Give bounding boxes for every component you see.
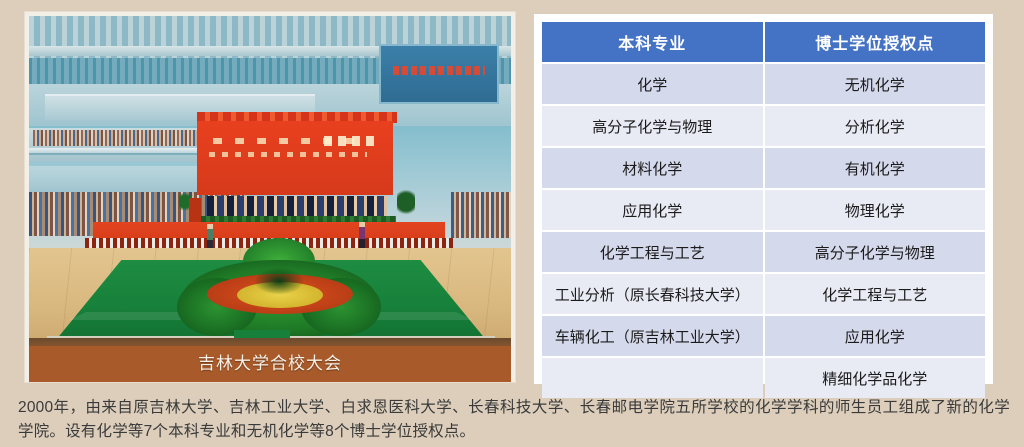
programs-table-panel: 本科专业 博士学位授权点 化学 无机化学 高分子化学与物理 分析化学 材料化学 … — [534, 14, 993, 384]
floral-dark-core — [255, 268, 303, 294]
table-header-row: 本科专业 博士学位授权点 — [542, 22, 985, 62]
cell-doctoral-program: 有机化学 — [765, 148, 986, 188]
cell-undergraduate-major: 应用化学 — [542, 190, 763, 230]
cell-doctoral-program: 无机化学 — [765, 64, 986, 104]
column-header-undergraduate-major: 本科专业 — [542, 22, 763, 62]
stage-backdrop-line-2 — [209, 152, 367, 157]
table-row: 应用化学 物理化学 — [542, 190, 985, 230]
cell-undergraduate-major: 工业分析（原长春科技大学） — [542, 274, 763, 314]
table-row: 高分子化学与物理 分析化学 — [542, 106, 985, 146]
ceremony-photograph — [29, 16, 511, 346]
cell-undergraduate-major: 高分子化学与物理 — [542, 106, 763, 146]
cell-undergraduate-major: 化学工程与工艺 — [542, 232, 763, 272]
stage-plant-right — [397, 190, 415, 220]
cell-doctoral-program: 分析化学 — [765, 106, 986, 146]
photo-ground-strip — [29, 338, 511, 346]
table-row: 车辆化工（原吉林工业大学） 应用化学 — [542, 316, 985, 356]
cell-undergraduate-major: 车辆化工（原吉林工业大学） — [542, 316, 763, 356]
table-row: 工业分析（原长春科技大学） 化学工程与工艺 — [542, 274, 985, 314]
photo-panel: 吉林大学合校大会 — [25, 12, 515, 382]
floral-arrangement — [181, 238, 377, 338]
audience-right — [451, 192, 511, 238]
cell-undergraduate-major: 材料化学 — [542, 148, 763, 188]
stage-backdrop-line-3 — [324, 136, 378, 146]
cell-doctoral-program: 精细化学品化学 — [765, 358, 986, 398]
column-header-doctoral-program: 博士学位授权点 — [765, 22, 986, 62]
led-display-text — [393, 66, 486, 75]
photo-frame: 吉林大学合校大会 — [29, 16, 511, 382]
table-row: 精细化学品化学 — [542, 358, 985, 398]
cell-doctoral-program: 高分子化学与物理 — [765, 232, 986, 272]
cell-doctoral-program: 应用化学 — [765, 316, 986, 356]
cell-doctoral-program: 物理化学 — [765, 190, 986, 230]
stage-red-backdrop — [197, 121, 393, 195]
table-row: 材料化学 有机化学 — [542, 148, 985, 188]
cell-undergraduate-major: 化学 — [542, 64, 763, 104]
footnote-paragraph: 2000年，由来自原吉林大学、吉林工业大学、白求恩医科大学、长春科技大学、长春邮… — [18, 396, 1010, 444]
cell-doctoral-program: 化学工程与工艺 — [765, 274, 986, 314]
photo-caption: 吉林大学合校大会 — [29, 346, 511, 382]
cell-undergraduate-major-empty — [542, 358, 763, 398]
programs-table-head: 本科专业 博士学位授权点 — [542, 22, 985, 62]
programs-table-body: 化学 无机化学 高分子化学与物理 分析化学 材料化学 有机化学 应用化学 物理化… — [542, 64, 985, 398]
table-row: 化学工程与工艺 高分子化学与物理 — [542, 232, 985, 272]
programs-table: 本科专业 博士学位授权点 化学 无机化学 高分子化学与物理 分析化学 材料化学 … — [540, 20, 987, 400]
table-row: 化学 无机化学 — [542, 64, 985, 104]
balcony-audience — [33, 130, 213, 146]
led-display-screen — [379, 44, 499, 104]
